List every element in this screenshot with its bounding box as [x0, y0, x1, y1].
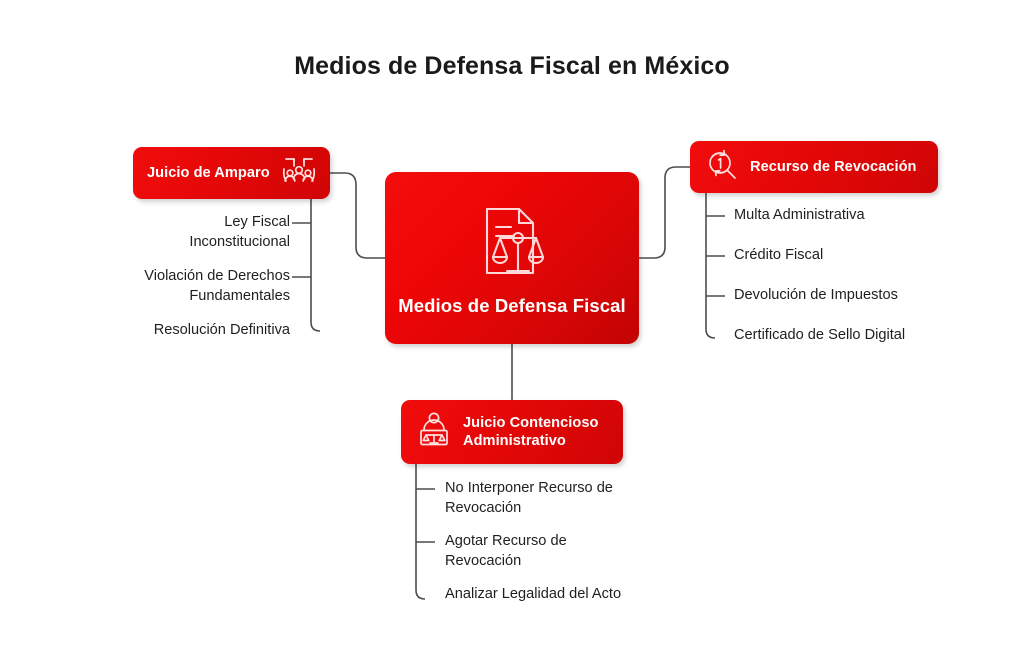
people-group-icon	[282, 155, 316, 192]
branch-node-amparo[interactable]: Juicio de Amparo	[133, 147, 330, 199]
trunk-contencioso	[416, 464, 425, 599]
sub-item-revocacion-3[interactable]: Devolución de Impuestos	[734, 286, 944, 306]
center-node[interactable]: Medios de Defensa Fiscal	[385, 172, 639, 344]
document-scales-icon	[473, 205, 551, 282]
sub-item-revocacion-4[interactable]: Certificado de Sello Digital	[734, 326, 949, 346]
trunk-revocacion	[706, 193, 715, 338]
page-title: Medios de Defensa Fiscal en México	[0, 52, 1024, 81]
diagram-canvas: Medios de Defensa Fiscal en México	[0, 0, 1024, 645]
judge-bench-scales-icon	[415, 410, 453, 455]
sub-item-revocacion-2[interactable]: Crédito Fiscal	[734, 246, 944, 266]
branch-label-revocacion: Recurso de Revocación	[750, 158, 917, 176]
branch-label-contencioso: Juicio Contencioso Administrativo	[463, 414, 609, 450]
magnifier-refresh-one-icon	[704, 148, 740, 187]
trunk-amparo	[311, 199, 320, 331]
sub-item-contencioso-3[interactable]: Analizar Legalidad del Acto	[445, 585, 645, 605]
sub-item-revocacion-1[interactable]: Multa Administrativa	[734, 206, 944, 226]
sub-item-amparo-1[interactable]: Ley Fiscal Inconstitucional	[120, 213, 290, 253]
sub-item-contencioso-2[interactable]: Agotar Recurso de Revocación	[445, 532, 645, 572]
connector-revocacion-to-center	[639, 167, 690, 258]
branch-label-amparo: Juicio de Amparo	[147, 164, 270, 182]
sub-item-amparo-3[interactable]: Resolución Definitiva	[110, 321, 290, 341]
branch-node-revocacion[interactable]: Recurso de Revocación	[690, 141, 938, 193]
sub-item-amparo-2[interactable]: Violación de Derechos Fundamentales	[110, 267, 290, 307]
center-node-label: Medios de Defensa Fiscal	[398, 294, 626, 318]
connector-amparo-to-center	[330, 173, 385, 258]
sub-item-contencioso-1[interactable]: No Interponer Recurso de Revocación	[445, 479, 645, 519]
branch-node-contencioso[interactable]: Juicio Contencioso Administrativo	[401, 400, 623, 464]
